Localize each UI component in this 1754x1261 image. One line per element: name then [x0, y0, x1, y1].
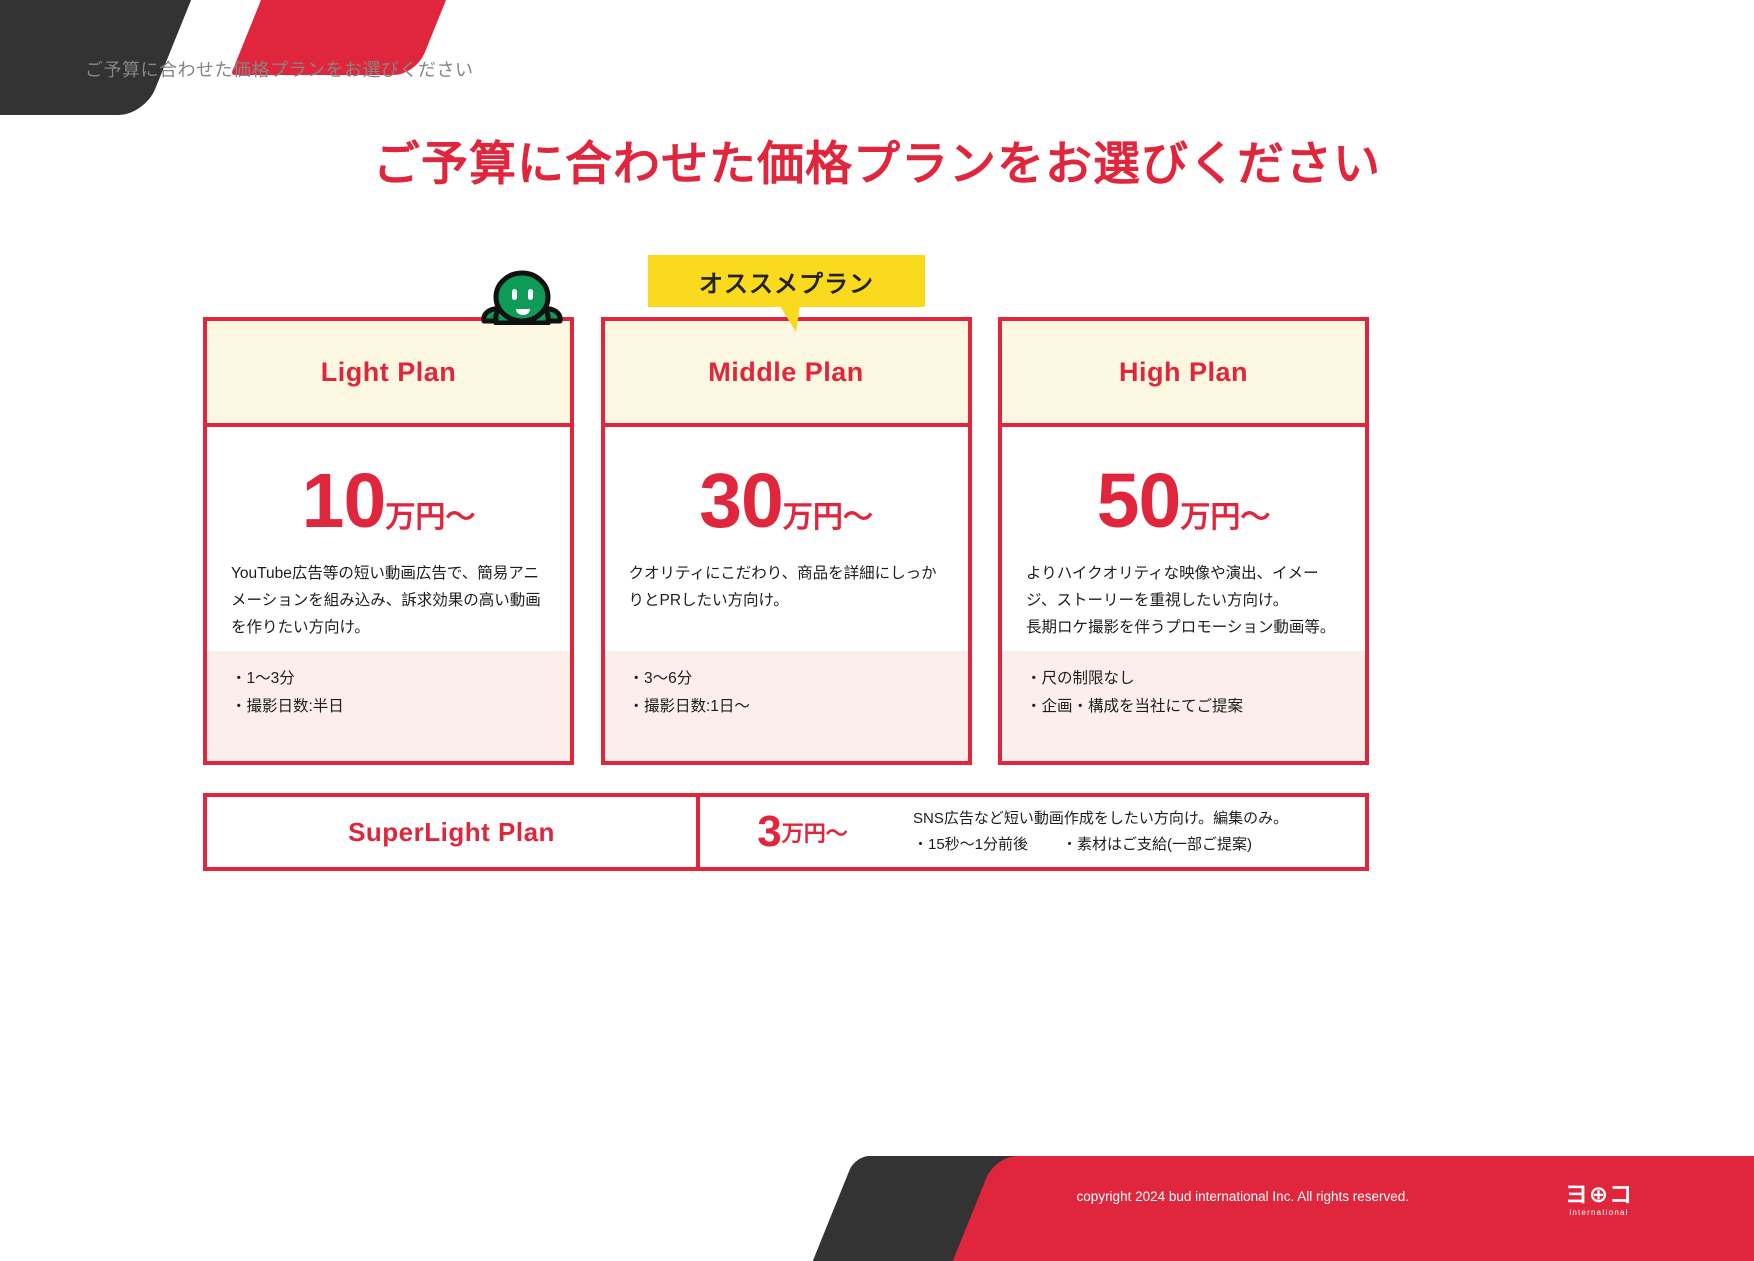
plan-spec-item: ・1〜3分 [231, 665, 546, 693]
plan-specs: ・1〜3分 ・撮影日数:半日 [207, 651, 570, 761]
superlight-name-cell: SuperLight Plan [207, 797, 700, 867]
plan-spec-item: ・撮影日数:1日〜 [629, 693, 944, 721]
plan-spec-item: ・3〜6分 [629, 665, 944, 693]
plan-description: よりハイクオリティな映像や演出、イメージ、ストーリーを重視したい方向け。 長期ロ… [1002, 540, 1365, 651]
page-title: ご予算に合わせた価格プランをお選びください [0, 125, 1754, 194]
pricing-cards: Light Plan 10万円〜 YouTube広告等の短い動画広告で、簡易アニ… [203, 317, 1369, 765]
plan-row-superlight[interactable]: SuperLight Plan 3万円〜 SNS広告など短い動画作成をしたい方向… [203, 793, 1369, 871]
plan-name: High Plan [1119, 357, 1248, 388]
superlight-sub-note: ・15秒〜1分前後 [913, 832, 1028, 858]
plan-price: 10万円〜 [207, 427, 570, 540]
superlight-sub-note: ・素材はご支給(一部ご提案) [1062, 832, 1252, 858]
plan-card-middle[interactable]: Middle Plan 30万円〜 クオリティにこだわり、商品を詳細にしっかりと… [601, 317, 972, 765]
plan-price-unit: 万円〜 [385, 501, 475, 534]
recommend-badge-label: オススメプラン [699, 264, 874, 299]
plan-price-number: 30 [699, 458, 783, 544]
recommend-badge: オススメプラン [648, 255, 925, 307]
superlight-price-cell: 3万円〜 [700, 797, 905, 867]
superlight-note: SNS広告など短い動画作成をしたい方向け。編集のみ。 [913, 806, 1365, 832]
plan-card-header: High Plan [1002, 321, 1365, 427]
bud-logo: ヨ⊕コ international [1554, 1182, 1644, 1217]
plan-spec-item: ・企画・構成を当社にてご提案 [1026, 693, 1341, 721]
plan-name: Light Plan [321, 357, 457, 388]
plan-specs: ・尺の制限なし ・企画・構成を当社にてご提案 [1002, 651, 1365, 761]
recommend-badge-tail [780, 306, 800, 332]
plan-card-high[interactable]: High Plan 50万円〜 よりハイクオリティな映像や演出、イメージ、ストー… [998, 317, 1369, 765]
plan-card-header: Middle Plan [605, 321, 968, 427]
superlight-notes-cell: SNS広告など短い動画作成をしたい方向け。編集のみ。 ・15秒〜1分前後 ・素材… [905, 797, 1365, 867]
plan-price-number: 3 [757, 810, 781, 854]
plan-card-light[interactable]: Light Plan 10万円〜 YouTube広告等の短い動画広告で、簡易アニ… [203, 317, 574, 765]
plan-name: Middle Plan [708, 357, 864, 388]
plan-description: YouTube広告等の短い動画広告で、簡易アニメーションを組み込み、訴求効果の高… [207, 540, 570, 651]
bud-logo-mark: ヨ⊕コ [1554, 1182, 1644, 1206]
plan-spec-item: ・撮影日数:半日 [231, 693, 546, 721]
plan-price: 50万円〜 [1002, 427, 1365, 540]
plan-price-number: 10 [302, 458, 386, 544]
plan-price-number: 50 [1097, 458, 1181, 544]
bud-logo-subtitle: international [1554, 1208, 1644, 1217]
plan-description: クオリティにこだわり、商品を詳細にしっかりとPRしたい方向け。 [605, 540, 968, 651]
plan-spec-item: ・尺の制限なし [1026, 665, 1341, 693]
plan-specs: ・3〜6分 ・撮影日数:1日〜 [605, 651, 968, 761]
copyright-text: copyright 2024 bud international Inc. Al… [1077, 1189, 1409, 1204]
plan-price-unit: 万円〜 [782, 816, 848, 848]
plan-price-unit: 万円〜 [1180, 501, 1270, 534]
header-breadcrumb: ご予算に合わせた価格プランをお選びください [85, 56, 474, 82]
plan-price-unit: 万円〜 [783, 501, 873, 534]
plan-card-header: Light Plan [207, 321, 570, 427]
plan-price: 30万円〜 [605, 427, 968, 540]
superlight-sub-notes: ・15秒〜1分前後 ・素材はご支給(一部ご提案) [913, 832, 1365, 858]
plan-name: SuperLight Plan [348, 817, 555, 848]
green-octopus-mascot [476, 267, 568, 325]
